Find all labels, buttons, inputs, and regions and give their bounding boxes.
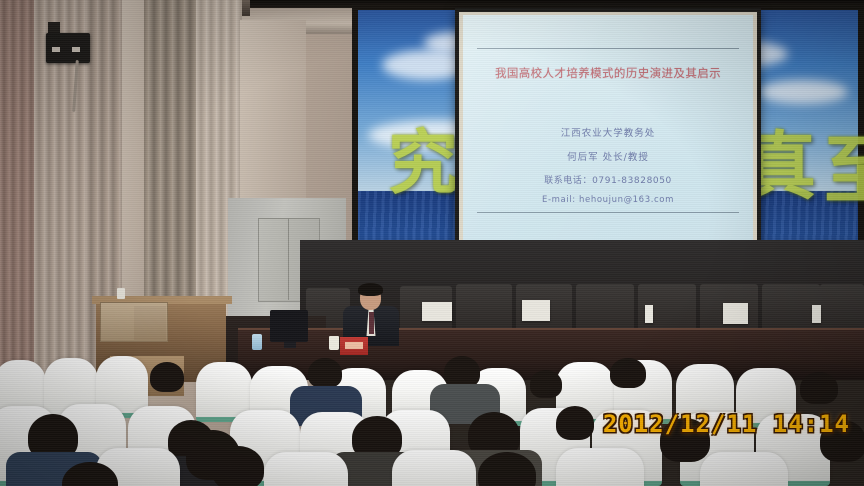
water-bottle	[252, 334, 262, 350]
slide-divider-top	[477, 48, 739, 49]
slide-email: E-mail: hehoujun@163.com	[463, 195, 753, 205]
slide-organization: 江西农业大学教务处	[463, 125, 753, 139]
desk-monitor	[270, 310, 308, 342]
white-cup	[329, 336, 339, 350]
name-card	[422, 302, 452, 321]
slide-phone: 联系电话：0791-83828050	[463, 173, 753, 186]
presentation-slide: 我国高校人才培养模式的历史演进及其启示 江西农业大学教务处 何后军 处长/教授 …	[463, 15, 753, 250]
name-card	[645, 305, 653, 323]
slide-divider-bottom	[477, 212, 739, 213]
audience-head	[150, 362, 184, 392]
audience-chair	[556, 448, 644, 486]
audience-chair	[392, 450, 476, 486]
calligraphy-character: 究	[388, 128, 458, 198]
audience-head	[800, 372, 838, 404]
cabinet-door-split	[288, 218, 289, 300]
audience-head	[610, 358, 646, 388]
audience-chair	[264, 452, 348, 486]
wall-pillar	[240, 20, 306, 220]
red-box-label	[345, 342, 363, 349]
audience-chair	[700, 452, 788, 486]
audience-head	[530, 370, 562, 398]
wall-pillar	[122, 0, 144, 330]
audience-head	[556, 406, 594, 440]
name-card	[812, 305, 821, 323]
wall-speaker-icon	[46, 33, 90, 63]
audience-head	[186, 430, 240, 480]
presenter-tie	[369, 312, 374, 334]
monitor-stand	[284, 342, 296, 348]
name-card	[723, 303, 748, 324]
audience-head	[308, 358, 342, 388]
white-cup	[117, 288, 125, 299]
speaker-bracket-icon	[48, 22, 60, 33]
calligraphy-character: 至	[824, 134, 864, 208]
timestamp: 2012/12/11 14:14	[603, 410, 850, 438]
cardboard-box	[134, 306, 166, 340]
name-card	[522, 300, 550, 321]
slide-title: 我国高校人才培养模式的历史演进及其启示	[463, 65, 753, 81]
photograph: 究 真 至 我国高校人才培养模式的历史演进及其启示 江西农业大学教务处 何后军 …	[0, 0, 864, 486]
slide-presenter: 何后军 处长/教授	[463, 149, 753, 163]
presenter-hair	[358, 283, 383, 296]
